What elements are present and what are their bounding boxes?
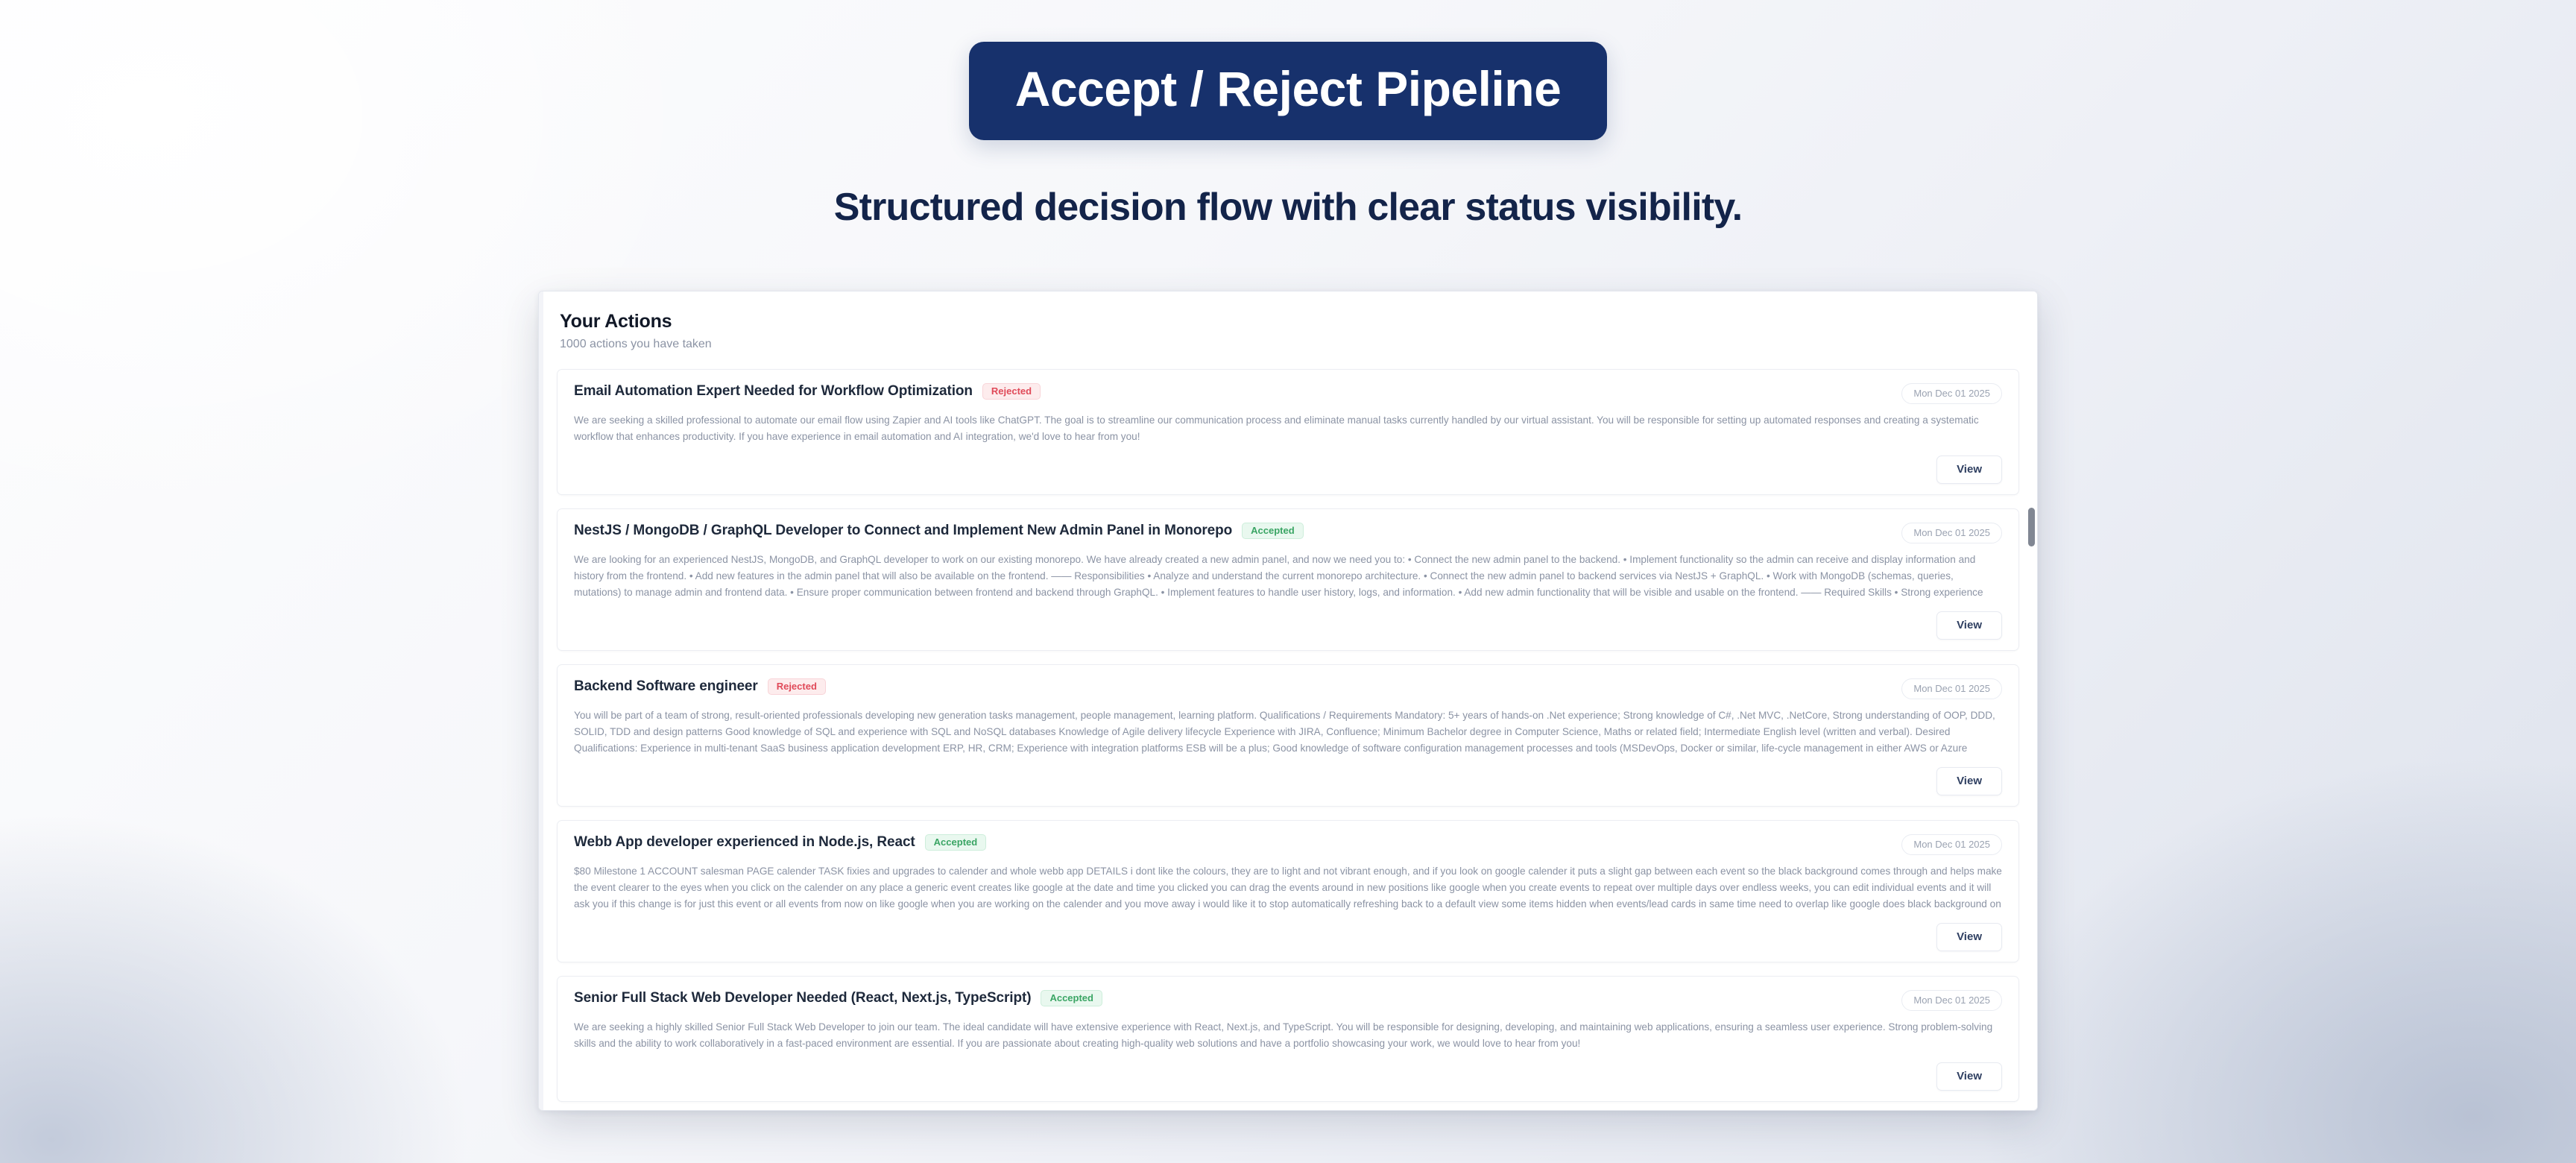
view-button[interactable]: View xyxy=(1936,1062,2002,1091)
hero-section: Accept / Reject Pipeline Structured deci… xyxy=(0,0,2576,230)
action-card-footer: View xyxy=(574,923,2002,951)
actions-title: Your Actions xyxy=(560,311,2016,332)
action-description: We are seeking a highly skilled Senior F… xyxy=(574,1019,2002,1052)
view-button[interactable]: View xyxy=(1936,456,2002,484)
status-badge: Accepted xyxy=(925,834,987,851)
action-card-title-group: Email Automation Expert Needed for Workf… xyxy=(574,383,1041,400)
action-date: Mon Dec 01 2025 xyxy=(1901,834,2002,855)
action-card-footer: View xyxy=(574,1062,2002,1091)
action-date: Mon Dec 01 2025 xyxy=(1901,383,2002,404)
action-card: Webb App developer experienced in Node.j… xyxy=(557,820,2019,962)
view-button[interactable]: View xyxy=(1936,923,2002,951)
action-card-title-group: Webb App developer experienced in Node.j… xyxy=(574,834,986,851)
status-badge: Accepted xyxy=(1242,523,1304,539)
view-button[interactable]: View xyxy=(1936,767,2002,795)
action-card-footer: View xyxy=(574,456,2002,484)
status-badge: Accepted xyxy=(1041,990,1102,1006)
action-date: Mon Dec 01 2025 xyxy=(1901,678,2002,699)
action-card-title-group: Backend Software engineerRejected xyxy=(574,678,826,695)
action-card: NestJS / MongoDB / GraphQL Developer to … xyxy=(557,508,2019,651)
scrollbar-thumb[interactable] xyxy=(2028,508,2035,546)
panel-scrollbar[interactable] xyxy=(2028,291,2035,1110)
action-date: Mon Dec 01 2025 xyxy=(1901,990,2002,1011)
action-title: Email Automation Expert Needed for Workf… xyxy=(574,383,973,400)
action-description: You will be part of a team of strong, re… xyxy=(574,707,2002,757)
view-button[interactable]: View xyxy=(1936,611,2002,640)
action-card-header: NestJS / MongoDB / GraphQL Developer to … xyxy=(574,523,2002,543)
page-title: Accept / Reject Pipeline xyxy=(1015,64,1562,113)
action-date: Mon Dec 01 2025 xyxy=(1901,523,2002,543)
action-card-title-group: Senior Full Stack Web Developer Needed (… xyxy=(574,990,1102,1006)
action-card-title-group: NestJS / MongoDB / GraphQL Developer to … xyxy=(574,523,1304,539)
action-card: Email Automation Expert Needed for Workf… xyxy=(557,369,2019,495)
actions-subtitle: 1000 actions you have taken xyxy=(560,338,2016,351)
panel-left-rail xyxy=(539,291,543,1110)
action-card-header: Senior Full Stack Web Developer Needed (… xyxy=(574,990,2002,1011)
actions-header: Your Actions 1000 actions you have taken xyxy=(557,311,2019,354)
actions-list: Email Automation Expert Needed for Workf… xyxy=(557,369,2019,1102)
action-title: Backend Software engineer xyxy=(574,678,758,695)
action-description: We are looking for an experienced NestJS… xyxy=(574,552,2002,601)
title-banner: Accept / Reject Pipeline xyxy=(969,42,1608,140)
action-card: Backend Software engineerRejectedMon Dec… xyxy=(557,664,2019,807)
action-card-footer: View xyxy=(574,611,2002,640)
action-card-header: Email Automation Expert Needed for Workf… xyxy=(574,383,2002,404)
action-title: Senior Full Stack Web Developer Needed (… xyxy=(574,990,1031,1006)
action-title: Webb App developer experienced in Node.j… xyxy=(574,834,915,851)
action-description: We are seeking a skilled professional to… xyxy=(574,412,2002,445)
status-badge: Rejected xyxy=(982,383,1041,400)
action-card-header: Backend Software engineerRejectedMon Dec… xyxy=(574,678,2002,699)
app-screenshot-panel: Your Actions 1000 actions you have taken… xyxy=(538,291,2038,1111)
action-card-footer: View xyxy=(574,767,2002,795)
action-card: Senior Full Stack Web Developer Needed (… xyxy=(557,976,2019,1102)
action-description: $80 Milestone 1 ACCOUNT salesman PAGE ca… xyxy=(574,863,2002,913)
actions-panel: Your Actions 1000 actions you have taken… xyxy=(539,291,2037,1110)
page-subtitle: Structured decision flow with clear stat… xyxy=(834,185,1743,230)
action-card-header: Webb App developer experienced in Node.j… xyxy=(574,834,2002,855)
status-badge: Rejected xyxy=(768,678,826,695)
action-title: NestJS / MongoDB / GraphQL Developer to … xyxy=(574,523,1232,539)
page-root: Accept / Reject Pipeline Structured deci… xyxy=(0,0,2576,1163)
